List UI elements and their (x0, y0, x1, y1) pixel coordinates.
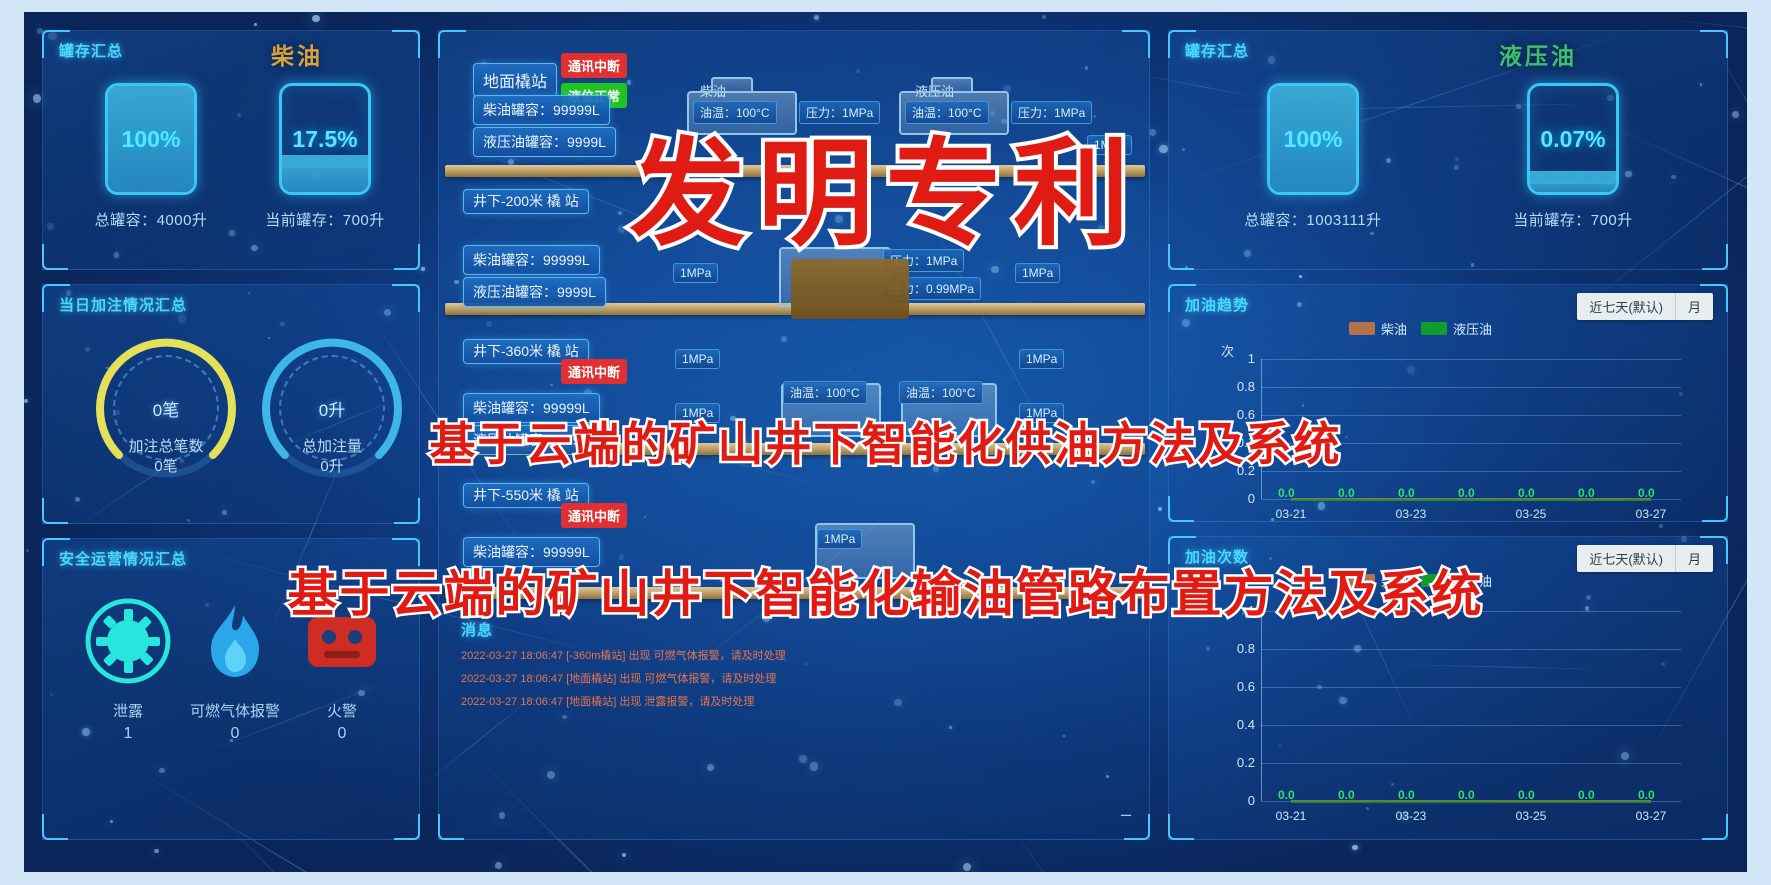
chart-ytick: 0.4 (1227, 717, 1255, 732)
chart-ytick: 0 (1227, 491, 1255, 506)
chart-ytick: 0.8 (1227, 641, 1255, 656)
tank-graphic-current-hydraulic: 0.07% (1527, 83, 1619, 195)
tank-graphic-total-diesel: 100% (105, 83, 197, 195)
station-tank-360-hydraulic: 液压油罐容：9999L (463, 425, 606, 455)
tank-total-hydraulic: 100% (1267, 83, 1359, 195)
chart-refuel-trend: 次 00.20.40.60.810.00.00.00.00.00.00.003-… (1169, 285, 1729, 523)
chart-xtick: 03-21 (1271, 809, 1311, 823)
panel-title-left-tank: 罐存汇总 (59, 40, 123, 61)
tank-current-hydraulic: 0.07% (1527, 83, 1619, 195)
tank-percent-current-hydraulic: 0.07% (1530, 126, 1616, 153)
tag-pressure-3: 1MPa (673, 263, 718, 283)
dashboard-screen: 罐存汇总 柴油 100% 总罐容：4000升 17.5% 当前罐存：700升 (24, 12, 1747, 872)
product-label-diesel: 柴油 (271, 37, 323, 71)
chart-gridline (1261, 443, 1681, 444)
panel-left-tank-summary: 罐存汇总 柴油 100% 总罐容：4000升 17.5% 当前罐存：700升 (42, 30, 420, 270)
gauge-caption-line2-volume: 0升 (237, 457, 427, 477)
chart-gridline (1261, 763, 1681, 764)
panel-title-refuel: 当日加注情况汇总 (59, 294, 187, 315)
fire-alarm-icon (296, 595, 388, 687)
chart-ytick: 0.8 (1227, 379, 1255, 394)
station-name-200[interactable]: 井下-200米 橇 站 (463, 189, 589, 214)
tank-graphic-current-diesel: 17.5% (279, 83, 371, 195)
chart-ytick: 1 (1227, 603, 1255, 618)
gauge-caption-line1-volume: 总加注量 (237, 437, 427, 457)
gauge-caption-line2-count: 0笔 (71, 457, 261, 477)
chart-xtick: 03-27 (1631, 809, 1671, 823)
safety-count-fire: 0 (267, 725, 417, 743)
chart-gridline (1261, 611, 1681, 612)
tag-oil-temp-4: 1MPa (817, 529, 862, 549)
tank-caption-current-hydraulic: 当前罐存：700升 (1458, 209, 1688, 230)
tank-percent-current-diesel: 17.5% (282, 126, 368, 153)
machine-cap-hydraulic-0 (931, 77, 973, 93)
station-tank-ground-diesel: 柴油罐容：99999L (473, 95, 610, 125)
chart-xtick: 03-25 (1511, 507, 1551, 521)
chart-xtick: 03-27 (1631, 507, 1671, 521)
station-badge-360-comm: 通讯中断 (561, 359, 627, 384)
gauge-caption-refuel-volume: 总加注量 0升 (237, 437, 427, 477)
station-name-ground[interactable]: 地面橇站 (473, 63, 557, 97)
chart-series-line (1291, 801, 1651, 803)
chart-gridline (1261, 471, 1681, 472)
chart-gridline (1261, 415, 1681, 416)
panel-refuel-count: 加油次数 近七天(默认) 月 柴油 液压油 00.20.40.60.810.00… (1168, 536, 1728, 840)
chart-y-axis (1261, 611, 1262, 801)
tank-percent-total-diesel: 100% (108, 126, 194, 153)
panel-pipeline-diagram: 地面橇站 通讯中断 液位正常 柴油罐容：99999L 液压油罐容：9999L 柴… (438, 30, 1150, 840)
station-tank-200-hydraulic: 液压油罐容：9999L (463, 277, 606, 307)
tag-oil-temp-3: 油温：100°C (899, 381, 983, 404)
chart-ytick: 0.2 (1227, 755, 1255, 770)
tag-pressure-4: 1MPa (1015, 263, 1060, 283)
chart-gridline (1261, 387, 1681, 388)
chart-gridline (1261, 687, 1681, 688)
tag-pressure-7: 1MPa (675, 349, 720, 369)
tank-caption-total-hydraulic: 总罐容：1003111升 (1198, 209, 1428, 230)
message-item: 2022-03-27 18:06:47 [地面橇站] 出现 泄露报警，请及时处理 (461, 693, 786, 709)
chart-xtick: 03-25 (1511, 809, 1551, 823)
panel-refuel-trend: 加油趋势 近七天(默认) 月 柴油 液压油 次 00.20.40.60.810.… (1168, 284, 1728, 522)
panel-right-tank-summary: 罐存汇总 液压油 100% 总罐容：1003111升 0.07% 当前罐存：70… (1168, 30, 1728, 270)
machine-cap-diesel-0 (711, 77, 753, 93)
station-badge-ground-comm: 通讯中断 (561, 53, 627, 78)
chart-xtick: 03-23 (1391, 507, 1431, 521)
station-badge-550-comm: 通讯中断 (561, 503, 627, 528)
station-tank-550-diesel: 柴油罐容：99999L (463, 537, 600, 567)
panel-title-messages: 消息 (461, 619, 493, 640)
message-item: 2022-03-27 18:06:47 [-360m橇站] 出现 可燃气体报警，… (461, 647, 786, 663)
safety-item-fire: 火警 0 (267, 595, 417, 743)
message-item: 2022-03-27 18:06:47 [地面橇站] 出现 可燃气体报警，请及时… (461, 670, 786, 686)
tag-oil-temp-1: 油温：100°C (905, 101, 989, 124)
chart-ytick: 0 (1227, 793, 1255, 808)
tank-caption-current-diesel: 当前罐存：700升 (210, 209, 440, 230)
collapse-icon[interactable]: – (1121, 804, 1131, 825)
tag-pressure-10: 1MPa (1019, 403, 1064, 423)
chart-gridline (1261, 359, 1681, 360)
tank-graphic-total-hydraulic: 100% (1267, 83, 1359, 195)
rail-level-0 (445, 165, 1145, 177)
tag-pressure-2: 1MPa (1087, 135, 1132, 155)
chart-ytick: 0.6 (1227, 407, 1255, 422)
chart-refuel-count: 00.20.40.60.810.00.00.00.00.00.00.003-21… (1169, 537, 1729, 841)
panel-title-right-tank: 罐存汇总 (1185, 40, 1249, 61)
station-tank-360-diesel: 柴油罐容：99999L (463, 393, 600, 423)
panel-safety-summary: 安全运营情况汇总 泄露 (42, 538, 420, 840)
chart-ytick: 0.2 (1227, 463, 1255, 478)
tank-percent-total-hydraulic: 100% (1270, 126, 1356, 153)
rail-level-550 (445, 587, 1145, 599)
message-panel: 消息 2022-03-27 18:06:47 [-360m橇站] 出现 可燃气体… (453, 617, 1137, 823)
chart-series-line (1291, 499, 1651, 501)
tag-pressure-9: 1MPa (675, 403, 720, 423)
tank-total-diesel: 100% (105, 83, 197, 195)
gauge-caption-refuel-count: 加注总笔数 0笔 (71, 437, 261, 477)
safety-label-fire: 火警 (267, 700, 417, 721)
station-tank-200-diesel: 柴油罐容：99999L (463, 245, 600, 275)
tag-pressure-8: 1MPa (1019, 349, 1064, 369)
tag-pressure-0: 压力：1MPa (799, 101, 880, 124)
panel-daily-refuel-summary: 当日加注情况汇总 0笔 加注总笔数 0笔 0升 (42, 284, 420, 524)
chart-gridline (1261, 649, 1681, 650)
chart-gridline (1261, 725, 1681, 726)
station-tank-ground-hydraulic: 液压油罐容：9999L (473, 127, 616, 157)
product-label-hydraulic: 液压油 (1499, 37, 1577, 71)
chart-ytick: 1 (1227, 351, 1255, 366)
tag-pressure-1: 压力：1MPa (1011, 101, 1092, 124)
chart-ytick: 0.6 (1227, 679, 1255, 694)
central-oil-tank (791, 259, 909, 319)
gauge-caption-line1-count: 加注总笔数 (71, 437, 261, 457)
message-list: 2022-03-27 18:06:47 [-360m橇站] 出现 可燃气体报警，… (461, 647, 786, 716)
screenshot-stage: 罐存汇总 柴油 100% 总罐容：4000升 17.5% 当前罐存：700升 (0, 0, 1771, 885)
panel-title-safety: 安全运营情况汇总 (59, 548, 187, 569)
chart-ytick: 0.4 (1227, 435, 1255, 450)
chart-xtick: 03-21 (1271, 507, 1311, 521)
tag-oil-temp-2: 油温：100°C (783, 381, 867, 404)
pipeline-canvas: 地面橇站 通讯中断 液位正常 柴油罐容：99999L 液压油罐容：9999L 柴… (439, 31, 1149, 839)
tank-current-diesel: 17.5% (279, 83, 371, 195)
chart-xtick: 03-23 (1391, 809, 1431, 823)
chart-y-axis (1261, 359, 1262, 499)
tag-oil-temp-0: 油温：100°C (693, 101, 777, 124)
